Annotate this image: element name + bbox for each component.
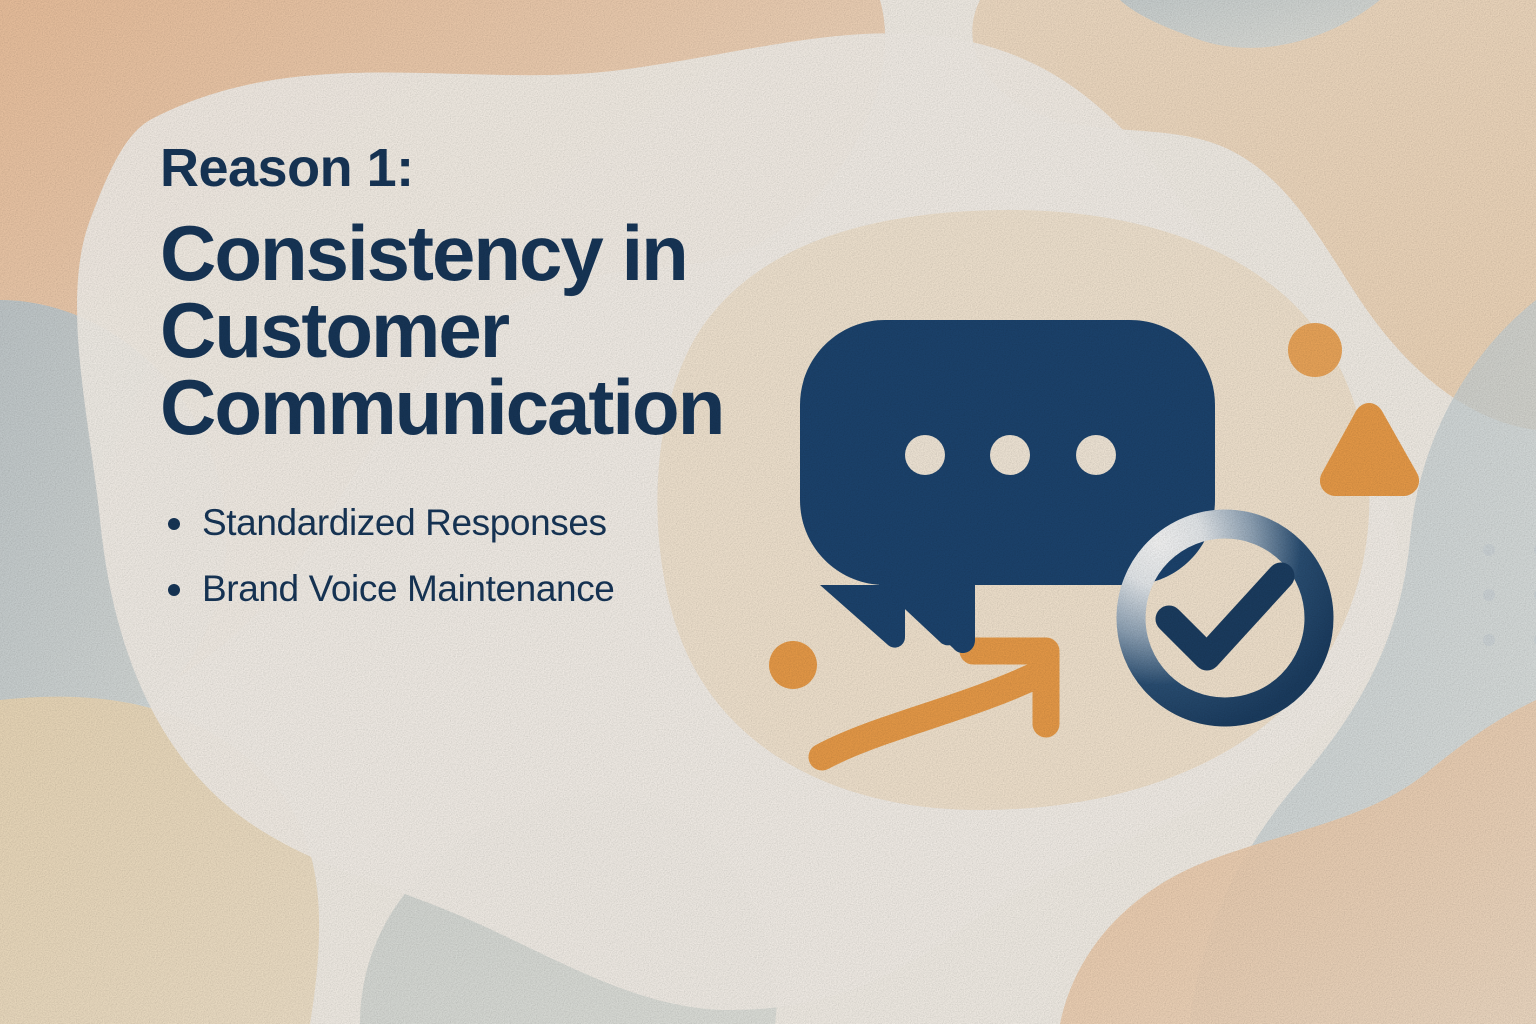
list-item: Standardized Responses bbox=[160, 504, 820, 541]
page-title: Consistency in Customer Communication bbox=[160, 215, 820, 447]
kicker-text: Reason 1: bbox=[160, 140, 820, 197]
content-layer: Reason 1: Consistency in Customer Commun… bbox=[0, 0, 1536, 1024]
slide-canvas: Reason 1: Consistency in Customer Commun… bbox=[0, 0, 1536, 1024]
list-item: Brand Voice Maintenance bbox=[160, 570, 820, 607]
list-item-label: Standardized Responses bbox=[202, 502, 607, 543]
bullet-list: Standardized Responses Brand Voice Maint… bbox=[160, 504, 820, 607]
text-column: Reason 1: Consistency in Customer Commun… bbox=[160, 140, 820, 636]
list-item-label: Brand Voice Maintenance bbox=[202, 568, 614, 609]
bullet-dot-icon bbox=[168, 518, 180, 530]
bullet-dot-icon bbox=[168, 584, 180, 596]
